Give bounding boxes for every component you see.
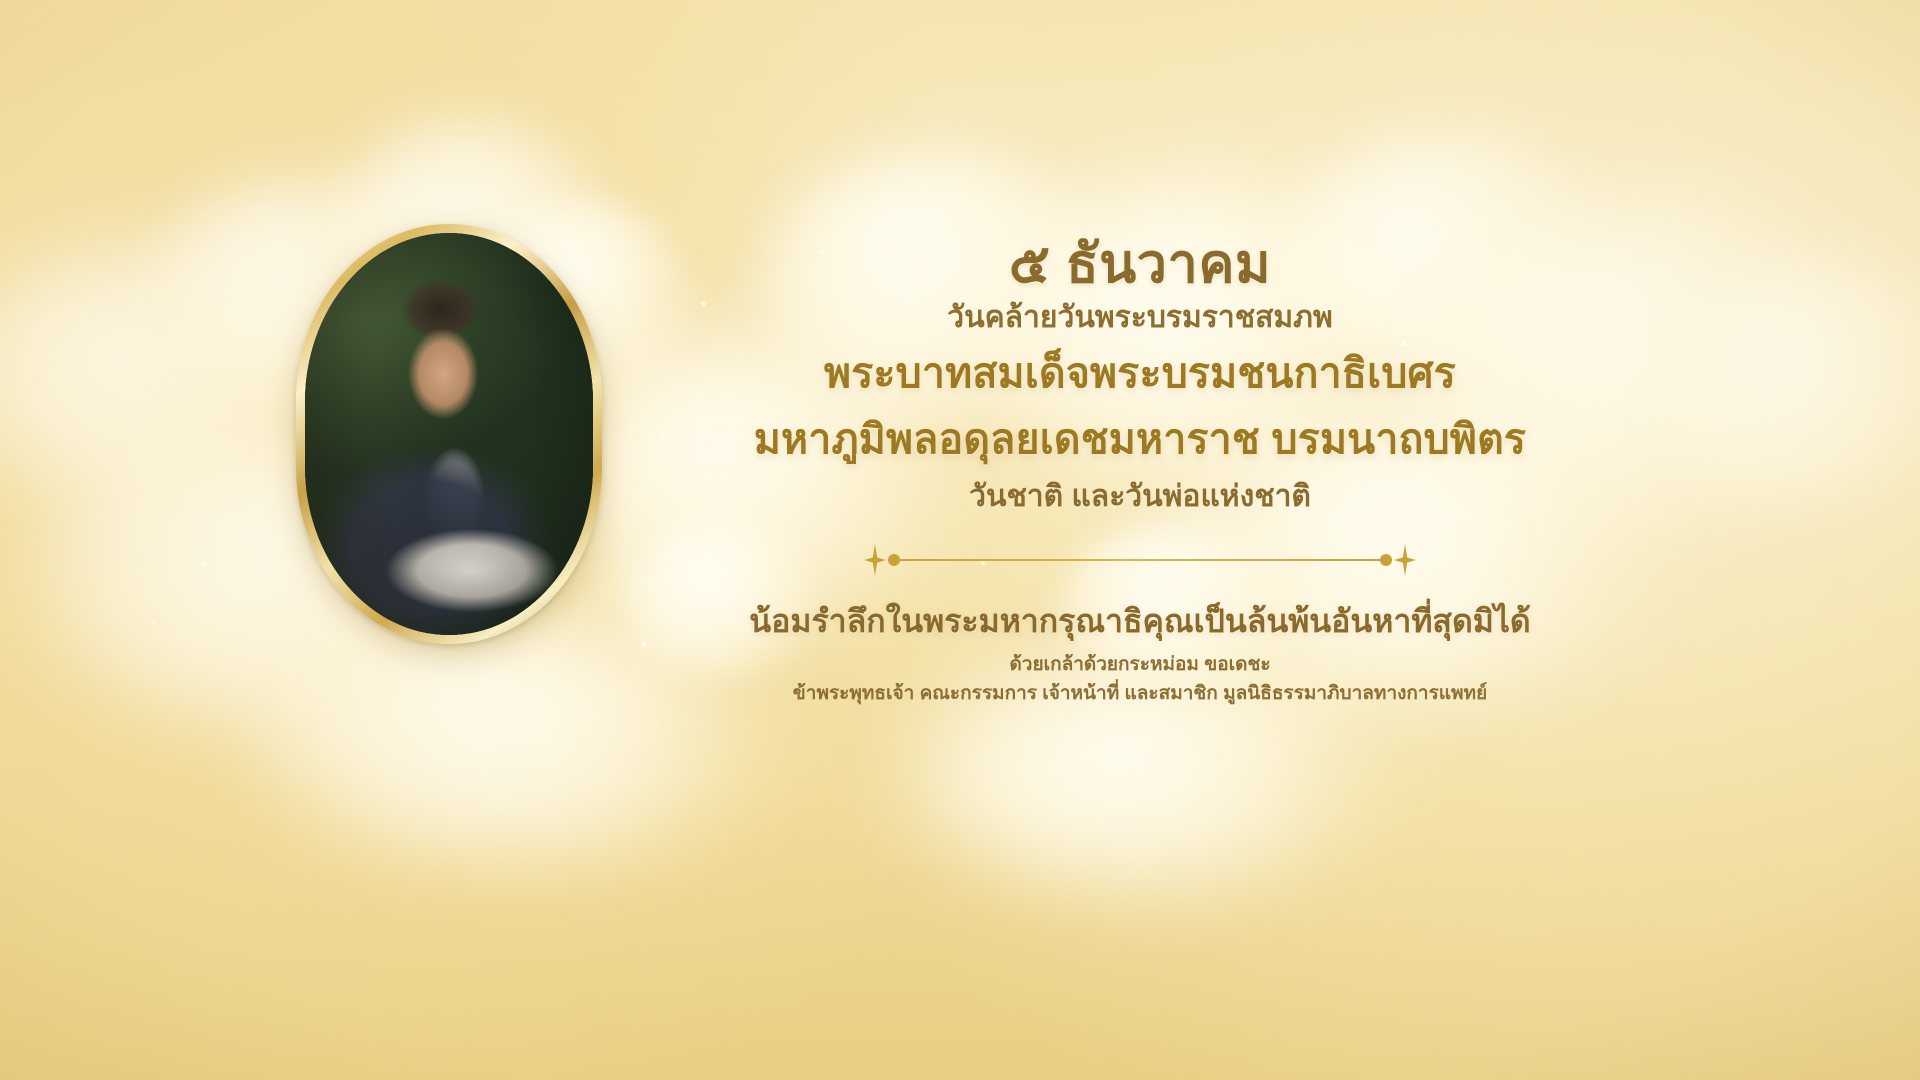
vignette-overlay — [0, 0, 1920, 1080]
banner-canvas: ๕ ธันวาคม วันคล้ายวันพระบรมราชสมภพ พระบา… — [0, 0, 1920, 1080]
